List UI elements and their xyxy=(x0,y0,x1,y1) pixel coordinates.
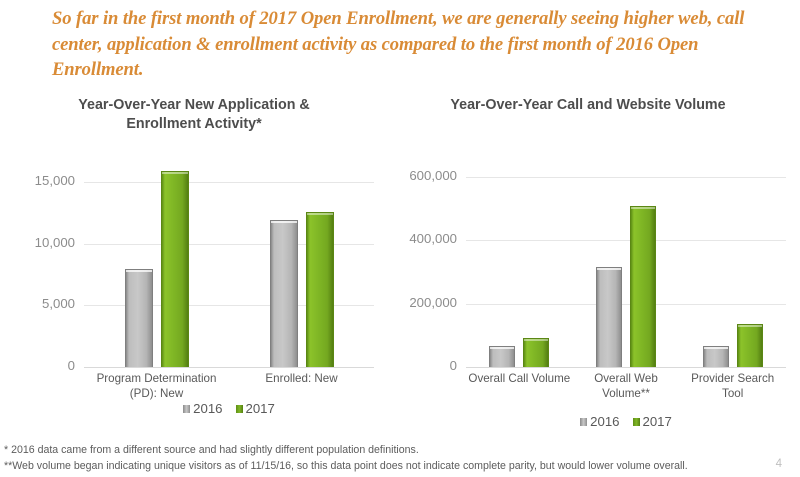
legend-swatch-2016-icon xyxy=(183,405,190,413)
bar-2016[interactable] xyxy=(489,346,515,368)
bar-groups xyxy=(466,146,786,368)
legend-label-2016: 2016 xyxy=(193,401,222,416)
legend-item-2016: 2016 xyxy=(183,401,222,416)
y-axis-tick-label: 5,000 xyxy=(42,296,75,311)
legend-item-2017: 2017 xyxy=(236,401,275,416)
slide-number: 4 xyxy=(776,458,782,470)
bar-group xyxy=(84,152,229,368)
axis-baseline xyxy=(466,367,786,368)
legend-label-2017: 2017 xyxy=(643,414,672,429)
plot-area: 0200,000400,000600,000 xyxy=(382,146,794,368)
footnotes: * 2016 data came from a different source… xyxy=(4,443,734,474)
category-label: Program Determination (PD): New xyxy=(84,372,229,401)
legend-swatch-2017-icon xyxy=(236,405,243,413)
plot-area: 05,00010,00015,000 xyxy=(8,152,380,368)
bar-2017[interactable] xyxy=(737,324,763,368)
chart-call-and-website-volume: Year-Over-Year Call and Website Volume 0… xyxy=(382,96,794,426)
legend-swatch-2016-icon xyxy=(580,418,587,426)
bar-2017[interactable] xyxy=(523,338,549,368)
legend-item-2016: 2016 xyxy=(580,414,619,429)
bar-group xyxy=(679,146,786,368)
chart-legend: 2016 2017 xyxy=(84,401,374,416)
plot-inner-right: 0200,000400,000600,000 xyxy=(466,146,786,368)
bar-2016[interactable] xyxy=(270,220,298,368)
y-axis-tick-label: 400,000 xyxy=(409,231,457,246)
category-label: Provider Search Tool xyxy=(679,372,786,401)
category-labels: Overall Call VolumeOverall Web Volume**P… xyxy=(466,372,786,401)
category-label: Enrolled: New xyxy=(229,372,374,401)
bar-group xyxy=(229,152,374,368)
legend-swatch-2017-icon xyxy=(633,418,640,426)
slide-headline: So far in the first month of 2017 Open E… xyxy=(52,6,752,83)
chart-title: Year-Over-Year Call and Website Volume xyxy=(382,96,794,115)
y-axis-tick-label: 600,000 xyxy=(409,168,457,183)
bar-group xyxy=(573,146,680,368)
chart-title: Year-Over-Year New Application & Enrollm… xyxy=(8,96,380,134)
axis-baseline xyxy=(84,367,374,368)
legend-item-2017: 2017 xyxy=(633,414,672,429)
plot-inner-left: 05,00010,00015,000 xyxy=(84,152,374,368)
bar-2017[interactable] xyxy=(630,206,656,368)
y-axis-tick-label: 0 xyxy=(450,358,457,373)
bar-group xyxy=(466,146,573,368)
bar-groups xyxy=(84,152,374,368)
y-axis-tick-label: 0 xyxy=(68,358,75,373)
category-labels: Program Determination (PD): NewEnrolled:… xyxy=(84,372,374,401)
bar-2017[interactable] xyxy=(306,212,334,368)
legend-label-2017: 2017 xyxy=(246,401,275,416)
chart-legend: 2016 2017 xyxy=(466,414,786,429)
category-label: Overall Web Volume** xyxy=(573,372,680,401)
bar-2016[interactable] xyxy=(596,267,622,368)
footnote-two: **Web volume began indicating unique vis… xyxy=(4,459,734,475)
y-axis-tick-label: 10,000 xyxy=(35,235,75,250)
bar-2017[interactable] xyxy=(161,171,189,368)
bar-2016[interactable] xyxy=(703,346,729,368)
bar-2016[interactable] xyxy=(125,269,153,368)
footnote-one: * 2016 data came from a different source… xyxy=(4,443,734,459)
category-label: Overall Call Volume xyxy=(466,372,573,401)
chart-new-application-enrollment-activity: Year-Over-Year New Application & Enrollm… xyxy=(8,96,380,426)
y-axis-tick-label: 15,000 xyxy=(35,173,75,188)
legend-label-2016: 2016 xyxy=(590,414,619,429)
y-axis-tick-label: 200,000 xyxy=(409,295,457,310)
